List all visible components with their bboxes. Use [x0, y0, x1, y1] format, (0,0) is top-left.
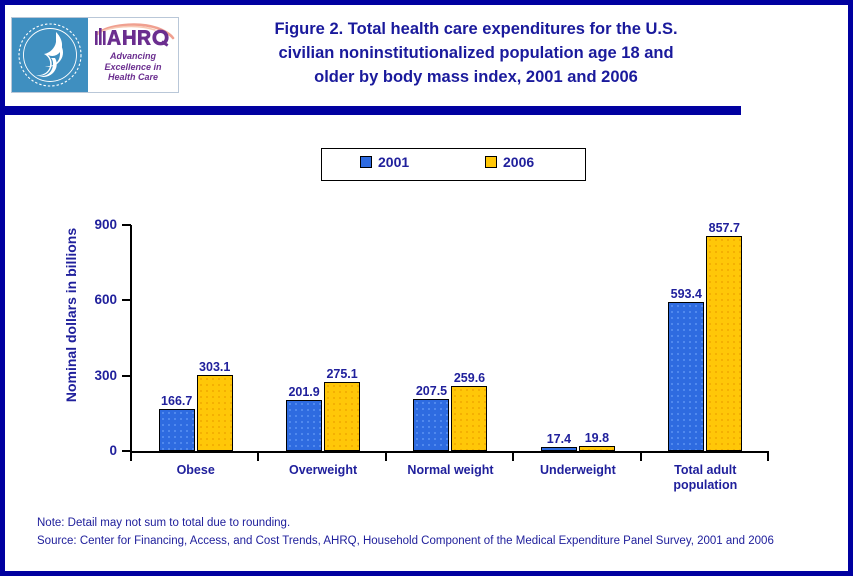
x-axis-separator	[640, 453, 642, 461]
y-axis-tick-label: 300	[57, 369, 117, 382]
x-axis-separator	[385, 453, 387, 461]
y-axis-tick-label: 600	[57, 293, 117, 306]
bar-chart: Nominal dollars in billions 0300600900 1…	[5, 5, 848, 571]
footnote-source: Source: Center for Financing, Access, an…	[37, 532, 837, 550]
bar-2001-normal-weight: 207.5	[413, 399, 449, 451]
footnote-note: Note: Detail may not sum to total due to…	[37, 514, 837, 532]
bar-2001-total-adult-population: 593.4	[668, 302, 704, 451]
x-axis-separator	[257, 453, 259, 461]
bar-value-label: 201.9	[288, 386, 319, 399]
bar-2006-obese: 303.1	[197, 375, 233, 451]
x-axis-label-line: Obese	[132, 463, 259, 478]
bar-value-label: 259.6	[454, 372, 485, 385]
bar-value-label: 19.8	[585, 432, 609, 445]
plot-area: 166.7303.1201.9275.1207.5259.617.419.859…	[132, 225, 769, 451]
y-axis-tick	[122, 224, 131, 226]
bar-value-label: 857.7	[709, 222, 740, 235]
bar-2001-obese: 166.7	[159, 409, 195, 451]
bar-2001-underweight: 17.4	[541, 447, 577, 451]
y-axis-title: Nominal dollars in billions	[63, 205, 79, 425]
bar-value-label: 166.7	[161, 395, 192, 408]
bar-2006-underweight: 19.8	[579, 446, 615, 451]
x-axis-label-underweight: Underweight	[514, 463, 641, 478]
x-axis-label-total-adult-population: Total adultpopulation	[642, 463, 769, 493]
bar-value-label: 17.4	[547, 433, 571, 446]
bar-group: 207.5259.6	[387, 225, 514, 451]
y-axis-tick	[122, 375, 131, 377]
bar-group: 201.9275.1	[259, 225, 386, 451]
bar-value-label: 303.1	[199, 361, 230, 374]
bar-2001-overweight: 201.9	[286, 400, 322, 451]
bar-group: 593.4857.7	[642, 225, 769, 451]
footnotes: Note: Detail may not sum to total due to…	[37, 514, 837, 550]
x-axis-label-overweight: Overweight	[259, 463, 386, 478]
figure-page: Advancing Excellence in Health Care Figu…	[0, 0, 853, 576]
bar-2006-overweight: 275.1	[324, 382, 360, 451]
x-axis-separator	[512, 453, 514, 461]
x-axis-separator	[767, 453, 769, 461]
y-axis-tick	[122, 299, 131, 301]
x-axis-label-line: population	[642, 478, 769, 493]
x-axis-label-obese: Obese	[132, 463, 259, 478]
y-axis-tick-label: 900	[57, 218, 117, 231]
x-axis-line	[130, 451, 769, 453]
bar-group: 166.7303.1	[132, 225, 259, 451]
x-axis-label-normal-weight: Normal weight	[387, 463, 514, 478]
x-axis-label-line: Normal weight	[387, 463, 514, 478]
bar-2006-normal-weight: 259.6	[451, 386, 487, 451]
x-axis-label-line: Overweight	[259, 463, 386, 478]
x-axis-label-line: Total adult	[642, 463, 769, 478]
y-axis-tick-label: 0	[57, 444, 117, 457]
bar-group: 17.419.8	[514, 225, 641, 451]
x-axis-separator	[130, 453, 132, 461]
bar-value-label: 593.4	[671, 288, 702, 301]
x-axis-label-line: Underweight	[514, 463, 641, 478]
bar-value-label: 207.5	[416, 385, 447, 398]
bar-2006-total-adult-population: 857.7	[706, 236, 742, 451]
bar-value-label: 275.1	[326, 368, 357, 381]
y-axis-tick	[122, 450, 131, 452]
